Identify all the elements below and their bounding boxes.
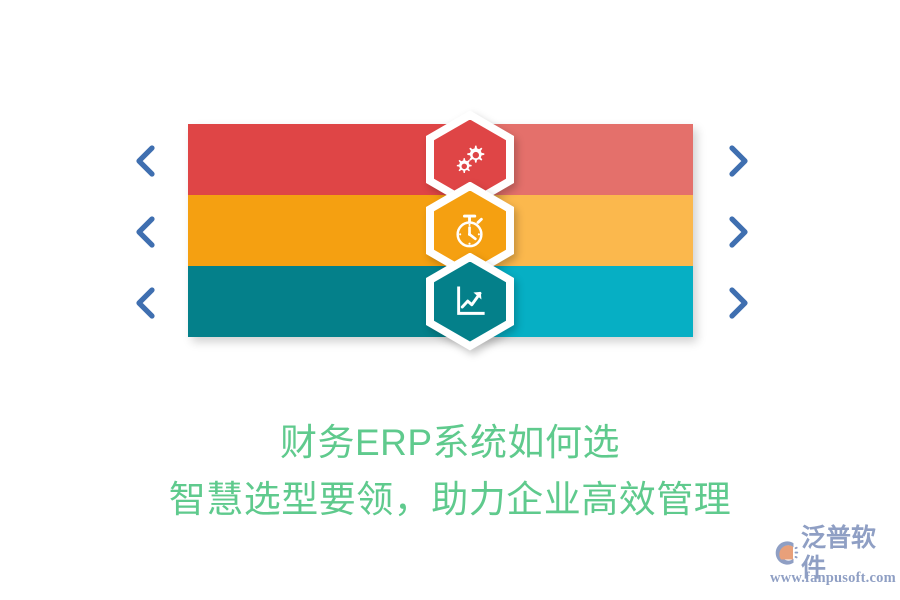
fanpu-c-mark-icon — [770, 538, 800, 568]
chevron-left-icon-2[interactable] — [128, 209, 162, 255]
title-line-2: 智慧选型要领，助力企业高效管理 — [0, 470, 900, 530]
chevron-right-icon-3[interactable] — [722, 280, 756, 326]
brand-logo[interactable]: 泛普软件 www.fanpusoft.com — [770, 536, 892, 592]
banner-area — [0, 0, 900, 400]
chevron-right-icon-1[interactable] — [722, 138, 756, 184]
logo-row: 泛普软件 — [770, 536, 892, 570]
hex-badge-growth[interactable] — [426, 253, 514, 351]
chevron-left-icon-1[interactable] — [128, 138, 162, 184]
logo-url: www.fanpusoft.com — [770, 569, 892, 587]
process-banner — [188, 124, 693, 337]
chevron-right-icon-2[interactable] — [722, 209, 756, 255]
page-title: 财务ERP系统如何选 智慧选型要领，助力企业高效管理 — [0, 415, 900, 530]
title-line-1: 财务ERP系统如何选 — [0, 415, 900, 470]
chevron-left-icon-3[interactable] — [128, 280, 162, 326]
band-growth — [188, 266, 693, 337]
